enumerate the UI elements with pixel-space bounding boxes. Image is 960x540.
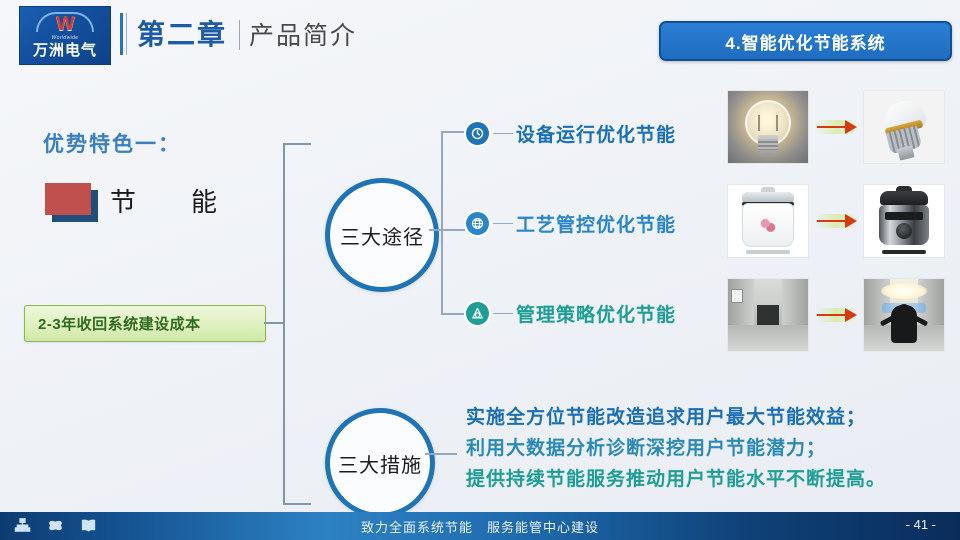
branch-item-process-label: 工艺管控优化节能 — [516, 210, 676, 237]
branch-item-equipment-label: 设备运行优化节能 — [516, 120, 676, 147]
photo-led-bulb — [863, 90, 945, 164]
advantage-title: 优势特色一： — [43, 128, 181, 158]
branch-bracket-arm-2 — [441, 229, 465, 231]
cost-callout-box: 2-3年收回系统建设成本 — [24, 305, 266, 342]
clock-circle-icon — [466, 122, 489, 145]
leaf-triangle-icon — [466, 302, 489, 325]
connector-spine-top — [283, 143, 311, 145]
right-arrow-red-1 — [813, 114, 859, 140]
logo-brand-cn: 万洲电气 — [20, 39, 110, 60]
connector-spine — [283, 143, 285, 505]
footer-slogan: 致力全面系统节能 服务能管中心建设 — [0, 517, 960, 536]
globe-network-icon — [466, 212, 489, 235]
logo-monogram: W — [20, 14, 110, 34]
right-arrow-red-2 — [813, 208, 859, 234]
node-three-ways-label: 三大途径 — [340, 221, 424, 250]
photo-row-hallway — [727, 278, 945, 352]
photo-row-bulbs — [727, 90, 945, 164]
page-title: 产品简介 — [249, 21, 357, 51]
branch-dash-2 — [493, 223, 513, 225]
branch-item-process[interactable]: 工艺管控优化节能 — [466, 210, 676, 237]
branch-item-management[interactable]: 管理策略优化节能 — [466, 300, 676, 327]
photo-row-cookers — [727, 184, 945, 258]
node-three-measures-label: 三大措施 — [338, 449, 422, 478]
connector-spine-to-cost-box — [264, 322, 284, 324]
photo-lit-hallway — [863, 278, 945, 352]
right-arrow-red-3 — [813, 302, 859, 328]
cost-callout-label: 2-3年收回系统建设成本 — [38, 313, 201, 334]
connector-measures-to-text — [425, 453, 457, 455]
node-three-ways[interactable]: 三大途径 — [325, 178, 439, 292]
photo-dark-hallway — [727, 278, 809, 352]
header-divider — [120, 13, 123, 55]
photo-rice-cooker — [727, 184, 809, 258]
branch-bracket-vertical — [441, 131, 443, 314]
branch-bracket-arm-3 — [441, 313, 465, 315]
branch-dash-1 — [493, 133, 513, 135]
branch-dash-3 — [493, 313, 513, 315]
measures-line-3: 提供持续节能服务推动用户节能水平不断提高。 — [466, 464, 886, 495]
header-divider-thin — [126, 13, 127, 55]
connector-spine-bottom — [283, 503, 311, 505]
accent-square — [45, 183, 91, 215]
chapter-title: 第二章 — [137, 19, 227, 51]
branch-item-management-label: 管理策略优化节能 — [516, 300, 676, 327]
slide-canvas: W Worldwide 万洲电气 第二章 产品简介 4.智能优化节能系统 优势特… — [0, 0, 960, 540]
advantage-keyword: 节 能 — [110, 182, 218, 219]
photo-pressure-cooker — [863, 184, 945, 258]
section-banner-label: 4.智能优化节能系统 — [725, 29, 885, 54]
photo-incandescent-bulb — [727, 90, 809, 164]
footer-bar: 致力全面系统节能 服务能管中心建设 - 41 - — [0, 512, 960, 540]
section-banner: 4.智能优化节能系统 — [659, 21, 952, 61]
measures-line-1: 实施全方位节能改造追求用户最大节能效益； — [466, 402, 886, 433]
branch-bracket-arm-1 — [441, 131, 465, 133]
footer-page-number: - 41 - — [906, 517, 936, 532]
branch-item-equipment[interactable]: 设备运行优化节能 — [466, 120, 676, 147]
header-separator — [239, 20, 240, 50]
company-logo: W Worldwide 万洲电气 — [19, 6, 111, 65]
node-three-measures[interactable]: 三大措施 — [325, 408, 435, 518]
measures-text-block: 实施全方位节能改造追求用户最大节能效益； 利用大数据分析诊断深挖用户节能潜力； … — [466, 402, 886, 495]
measures-line-2: 利用大数据分析诊断深挖用户节能潜力； — [466, 433, 886, 464]
